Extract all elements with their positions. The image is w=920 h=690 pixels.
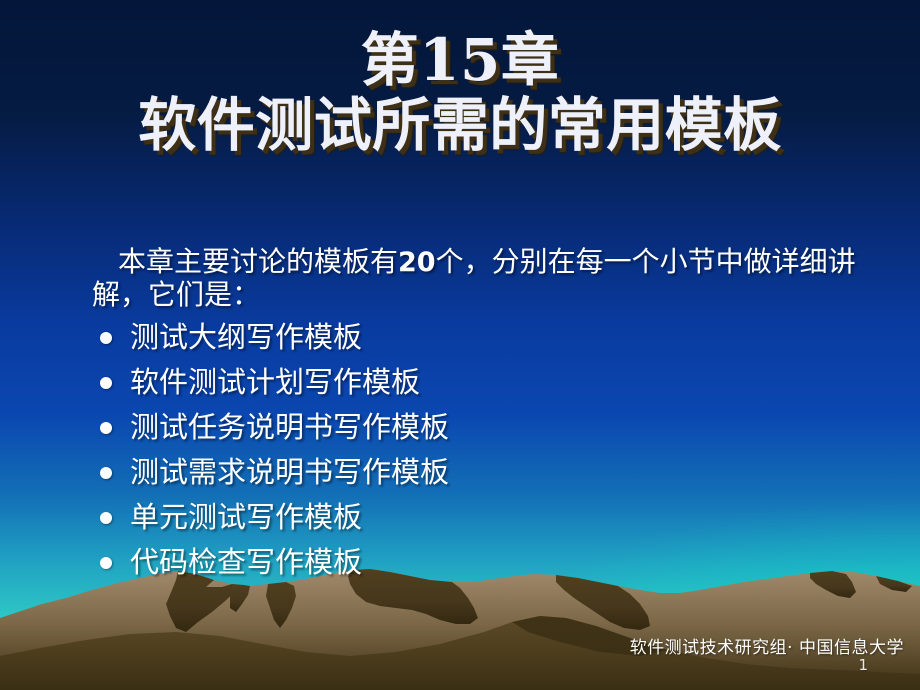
list-item: 测试需求说明书写作模板 xyxy=(92,450,882,495)
bullet-dot-icon xyxy=(100,422,112,434)
list-item: 代码检查写作模板 xyxy=(92,540,882,585)
list-item: 测试大纲写作模板 xyxy=(92,315,882,360)
slide-body: 本章主要讨论的模板有20个，分别在每一个小节中做详细讲解，它们是： 测试大纲写作… xyxy=(92,246,882,585)
bullet-dot-icon xyxy=(100,467,112,479)
list-item-label: 软件测试计划写作模板 xyxy=(130,365,420,399)
slide-canvas: 第15章 软件测试所需的常用模板 本章主要讨论的模板有20个，分别在每一个小节中… xyxy=(0,0,920,690)
template-list: 测试大纲写作模板 软件测试计划写作模板 测试任务说明书写作模板 测试需求说明书写… xyxy=(92,315,882,585)
intro-template-count: 20 xyxy=(398,247,436,278)
list-item-label: 测试大纲写作模板 xyxy=(130,320,362,354)
list-item-label: 单元测试写作模板 xyxy=(130,500,362,534)
list-item-label: 测试需求说明书写作模板 xyxy=(130,455,449,489)
bullet-dot-icon xyxy=(100,512,112,524)
intro-prefix-text: 本章主要讨论的模板有 xyxy=(118,245,398,278)
intro-paragraph: 本章主要讨论的模板有20个，分别在每一个小节中做详细讲解，它们是： xyxy=(92,246,882,311)
page-number: 1 xyxy=(858,656,868,674)
bullet-dot-icon xyxy=(100,332,112,344)
list-item-label: 代码检查写作模板 xyxy=(130,545,362,579)
bullet-dot-icon xyxy=(100,557,112,569)
bullet-dot-icon xyxy=(100,377,112,389)
list-item-label: 测试任务说明书写作模板 xyxy=(130,410,449,444)
list-item: 测试任务说明书写作模板 xyxy=(92,405,882,450)
list-item: 软件测试计划写作模板 xyxy=(92,360,882,405)
list-item: 单元测试写作模板 xyxy=(92,495,882,540)
slide-footer: 软件测试技术研究组· 中国信息大学 xyxy=(630,633,904,658)
